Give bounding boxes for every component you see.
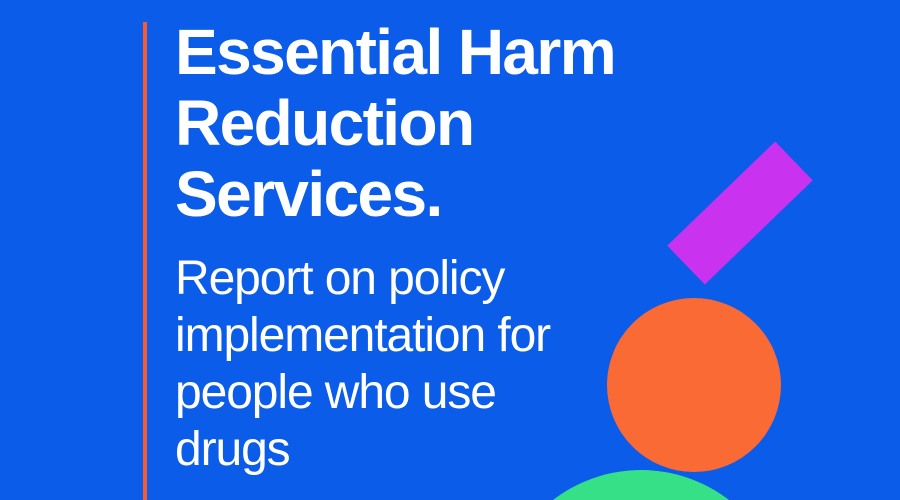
magenta-rotated-rectangle-shape	[667, 141, 812, 284]
title-line-1: Essential Harm	[175, 17, 645, 88]
report-cover: Essential Harm Reduction Services. Repor…	[0, 0, 900, 500]
subtitle-line-1: Report on policy	[175, 250, 645, 307]
page-subtitle: Report on policy implementation for peop…	[175, 230, 645, 478]
subtitle-line-3: people who use	[175, 364, 645, 421]
subtitle-line-2: implementation for	[175, 307, 645, 364]
vertical-accent-rule	[143, 22, 147, 500]
cover-text-block: Essential Harm Reduction Services. Repor…	[175, 0, 645, 478]
title-line-2: Reduction	[175, 88, 645, 159]
subtitle-line-4: drugs	[175, 421, 645, 478]
page-title: Essential Harm Reduction Services.	[175, 0, 645, 230]
title-line-3: Services.	[175, 159, 645, 230]
